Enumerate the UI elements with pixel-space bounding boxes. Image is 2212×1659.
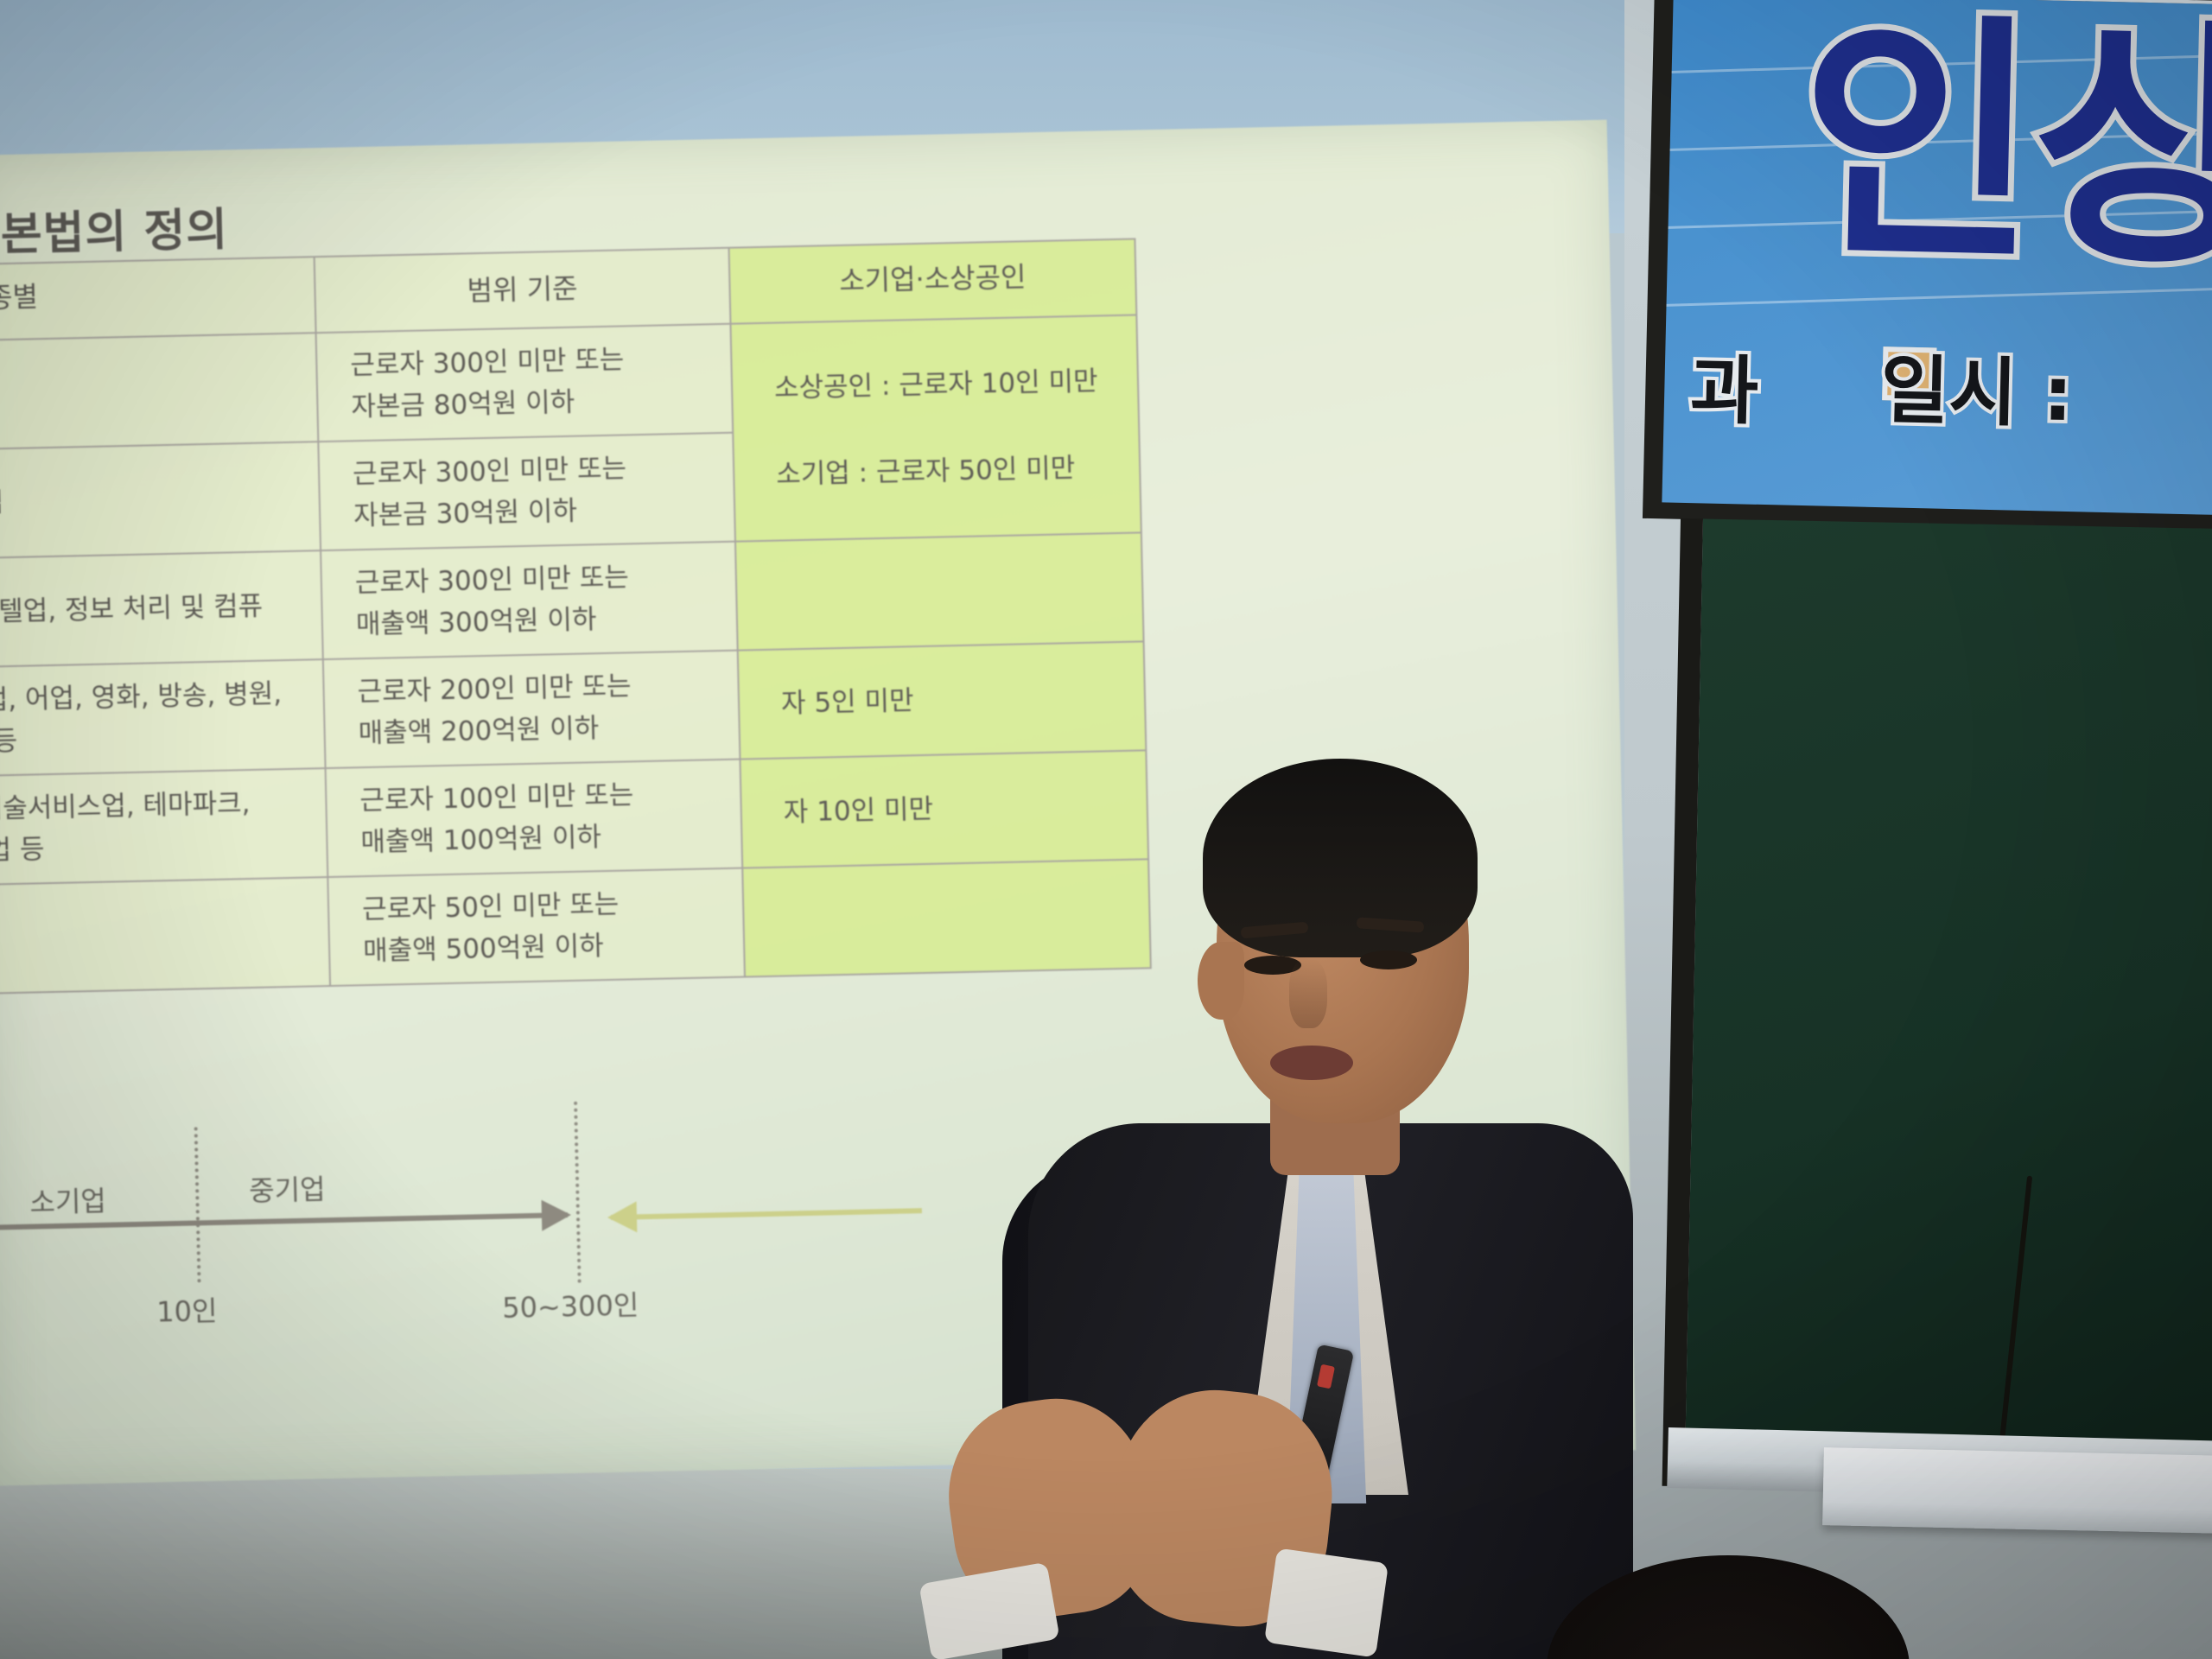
- table-header-industry: 업종별: [0, 257, 316, 341]
- axis-tick-label-1: 10인: [156, 1289, 218, 1331]
- slide-title: 기본법의 정의: [0, 193, 229, 264]
- criteria-line-2: 자본금 80억원 이하: [351, 378, 716, 428]
- definition-table: 업종별 범위 기준 소기업·소상공인 근로자 300인 미만 또는 자본금 80…: [0, 238, 1152, 995]
- axis-tick-label-2: 50~300인: [502, 1283, 639, 1325]
- cell-criteria: 근로자 100인 미만 또는 매출액 100억원 이하: [326, 760, 743, 878]
- criteria-line-2: 매출액 300억원 이하: [355, 596, 721, 645]
- cell-criteria: 근로자 200인 미만 또는 매출액 200억원 이하: [323, 651, 741, 769]
- size-axis-diagram: 인 소기업 중기업 5인 10인 50~300인: [0, 1115, 786, 1358]
- wall-banner-inner: 인상 과 일시 :: [1662, 0, 2212, 516]
- small-biz-line-2: 소기업 : 근로자 50인 미만: [776, 447, 1124, 496]
- cell-industry: 업종: [0, 877, 330, 995]
- banner-title: 인상: [1796, 0, 2212, 315]
- industry-line-2: 도업 등: [0, 714, 308, 763]
- presenter-ear: [1198, 942, 1244, 1020]
- cell-criteria: 근로자 300인 미만 또는 자본금 80억원 이하: [316, 323, 734, 442]
- cell-criteria: 근로자 300인 미만 또는 매출액 300억원 이하: [321, 541, 738, 659]
- table-header-criteria: 범위 기준: [315, 248, 731, 333]
- criteria-line-2: 자본금 30억원 이하: [353, 487, 719, 537]
- criteria-line-2: 매출액 500억원 이하: [363, 923, 728, 972]
- cell-criteria: 근로자 300인 미만 또는 자본금 30억원 이하: [318, 432, 735, 550]
- banner-left-word: 과: [1689, 329, 1760, 439]
- industry-line-2: 임대업 등: [0, 823, 311, 872]
- photo-scene: 기본법의 정의 업종별 범위 기준 소기업·소상공인 근로자 300인 미만 또…: [0, 0, 2212, 1659]
- tick-10: [194, 1127, 201, 1282]
- criteria-line-2: 매출액 100억원 이하: [360, 814, 726, 863]
- cell-industry: 생산업, 어업, 영화, 방송, 병원, 도업 등: [0, 659, 326, 777]
- presenter-cuff-right: [1264, 1548, 1389, 1657]
- presenter: [985, 795, 1642, 1659]
- paper-stack: [1822, 1447, 2212, 1534]
- cell-small-business: 자 5인 미만: [738, 641, 1147, 759]
- presenter-mouth: [1270, 1046, 1353, 1080]
- industry-line-1: 생산업, 어업, 영화, 방송, 병원,: [0, 672, 308, 721]
- arrow-left-icon: [611, 1208, 922, 1220]
- small-biz-line-1: 소상공인 : 근로자 10인 미만: [774, 360, 1122, 410]
- table-header-small-business: 소기업·소상공인: [729, 238, 1137, 323]
- tick-50-300: [574, 1102, 582, 1283]
- axis-seg-label-2: 중기업: [249, 1167, 326, 1209]
- presenter-eye-right: [1360, 950, 1417, 969]
- cell-small-business: [735, 532, 1144, 650]
- table-row: 근로자 300인 미만 또는 자본금 80억원 이하 소상공인 : 근로자 10…: [0, 315, 1139, 450]
- cell-small-business: 소상공인 : 근로자 10인 미만 소기업 : 근로자 50인 미만: [730, 315, 1141, 541]
- cell-industry: 업, 기술서비스업, 테마파크, 임대업 등: [0, 768, 327, 886]
- cell-criteria: 근로자 50인 미만 또는 매출액 500억원 이하: [327, 868, 745, 987]
- axis-seg-label-1: 소기업: [29, 1179, 106, 1221]
- wall-banner: 인상 과 일시 :: [1643, 0, 2212, 532]
- cell-industry: [0, 333, 318, 450]
- criteria-line-2: 매출액 200억원 이하: [358, 705, 723, 754]
- banner-date-label: 일시 :: [1879, 329, 2074, 442]
- chalkboard: [1662, 518, 2212, 1497]
- cell-industry: 업, 호텔업, 정보 처리 및 컴퓨: [0, 550, 323, 668]
- presenter-nose: [1289, 959, 1327, 1028]
- clicker-led-icon: [1317, 1364, 1335, 1389]
- cell-industry: 운송업: [0, 442, 321, 559]
